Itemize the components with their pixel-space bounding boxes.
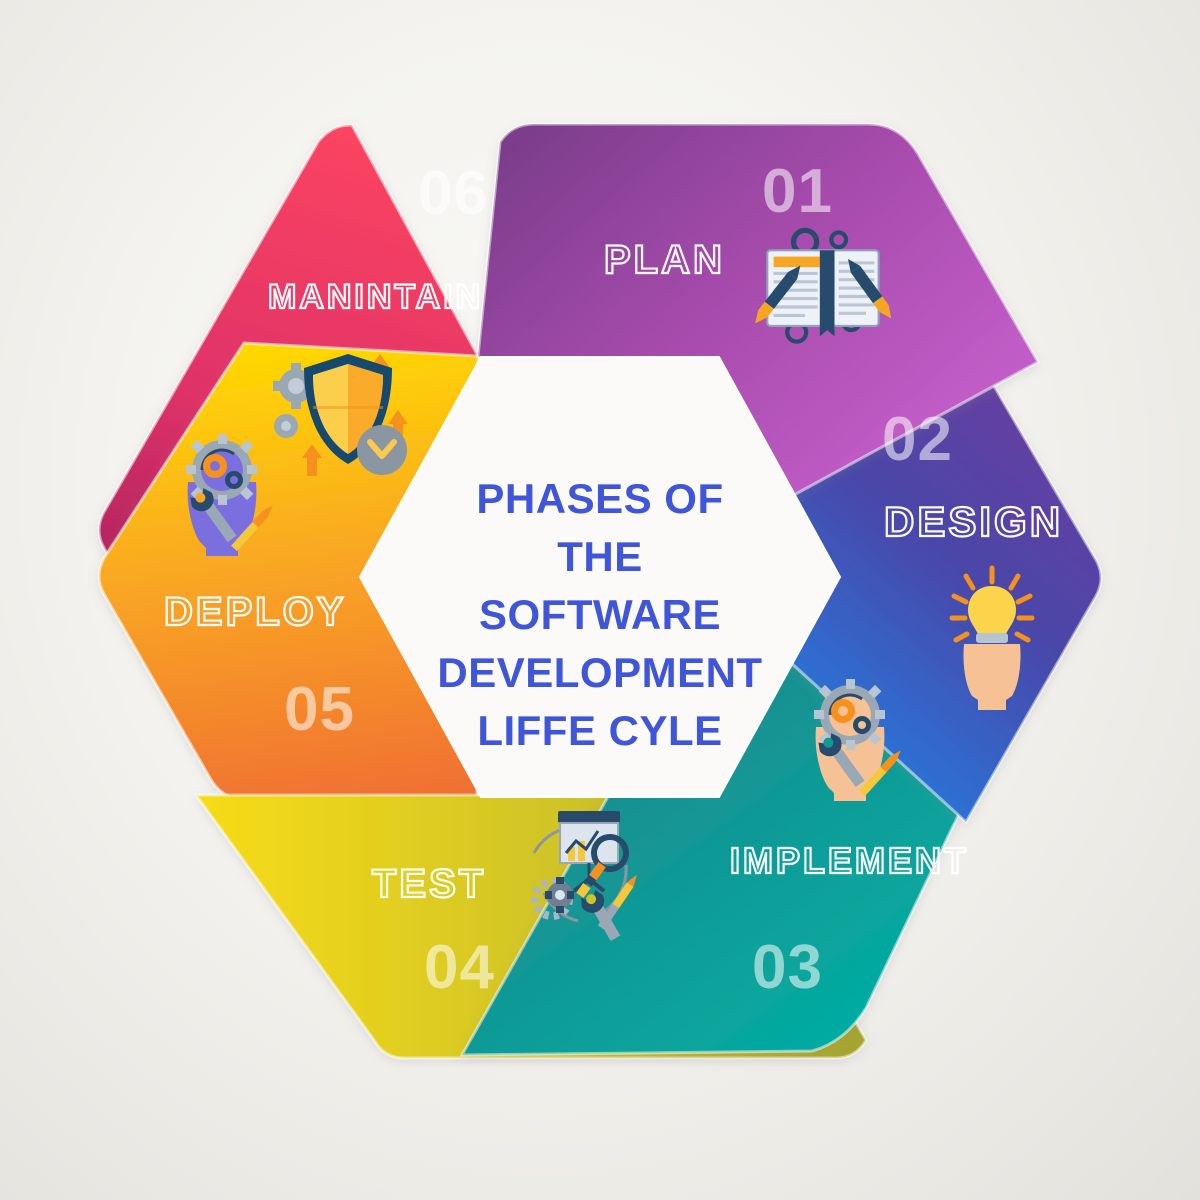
infographic-canvas: PLAN 01 DESIGN 02 IMPLEMENT 03 TEST 04 D… bbox=[0, 0, 1200, 1200]
hexagon-cycle-graphic bbox=[0, 0, 1200, 1200]
